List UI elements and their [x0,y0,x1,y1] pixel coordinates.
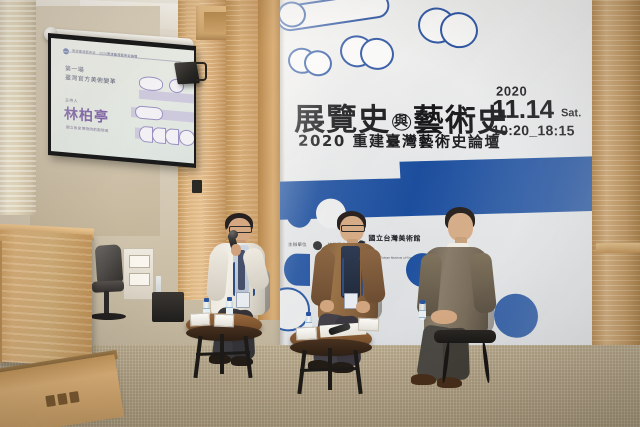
wall-box-plate-upper [129,255,150,268]
banner-dot-3 [284,253,310,286]
speaker-right-shoe-near [437,377,462,388]
name-card-right-1 [296,326,318,340]
speaker-center-hand-left [320,300,334,312]
slide-circle-shape-2 [139,126,153,143]
slide-circle-shape-3 [152,127,166,144]
podium-side-panel [0,239,2,363]
speaker-center-glasses-icon [341,225,365,232]
chair-seat-right [434,330,496,343]
banner-title-connector: 與 [392,113,411,130]
projection-screen-surface: 重建臺灣藝術史 · 2020重建臺灣藝術史論壇 第一場 臺灣官方美術變革 主持人… [51,38,194,164]
host-label: 主辦單位 [288,242,307,248]
wooden-rail [596,243,640,254]
speaker-right-shoe-far [411,374,436,385]
slide-role-label: 主持人 [65,97,78,104]
bottle-cap [306,312,311,316]
conference-photo: 重建臺灣藝術史 · 2020重建臺灣藝術史論壇 第一場 臺灣官方美術變革 主持人… [0,0,640,427]
bottle-cap [420,300,425,304]
bottle-cap [204,298,209,302]
banner-cloud-3b [360,37,394,70]
wall-jack-plate [192,180,202,193]
slide-band-1 [139,90,194,104]
wooden-wall-right [592,0,640,372]
wall-pillar-left [0,0,36,215]
wall-utility-box [123,248,154,300]
slide-circle-shape-4 [165,128,179,145]
name-card-left-1 [190,312,211,326]
slide-circle-shape-5 [179,129,194,146]
banner-subtitle: 2020 重建臺灣藝術史論壇 [298,130,501,152]
name-card-right-2 [358,318,379,332]
stage-vent-3 [69,391,80,403]
slide-header-text: 重建臺灣藝術史 · 2020重建臺灣藝術史論壇 [72,48,138,59]
amplifier-box [152,292,184,322]
name-card-left-2 [214,314,234,328]
podium-lectern [0,229,92,366]
museum-name-cn: 國立台灣美術館 [368,235,421,242]
slide-speaker-name: 林柏亭 [64,105,109,125]
banner-cloud-2b [304,50,332,77]
stage-vent-2 [57,393,68,405]
microphone-head-icon [229,230,238,239]
stage-vent-1 [45,395,56,407]
banner-date: 11.14 [492,94,554,125]
banner-weekday: Sat. [561,107,581,119]
speaker-left-hand [231,244,241,256]
bottle-label [419,310,426,318]
speaker-left-badge [236,292,250,308]
banner-time: 10:20_18:15 [492,122,575,138]
banner-cloud-4b [440,12,478,49]
bottle-cap [227,297,232,301]
loudspeaker-bracket [196,62,207,81]
speaker-right-hands [431,310,457,324]
slide-session-block: 第一場 臺灣官方美術變革 [65,65,116,87]
speaker-center-hand-right [356,301,370,313]
banner-dot-1 [286,197,312,228]
slide-speaker-title: 國立故宮博物院前副院長 [66,125,109,134]
slide-pill-shape [135,105,163,120]
office-chair-back [95,244,124,284]
wall-box-plate-lower [129,273,150,286]
office-chair-base [90,313,126,320]
banner-dot-6 [494,293,538,338]
